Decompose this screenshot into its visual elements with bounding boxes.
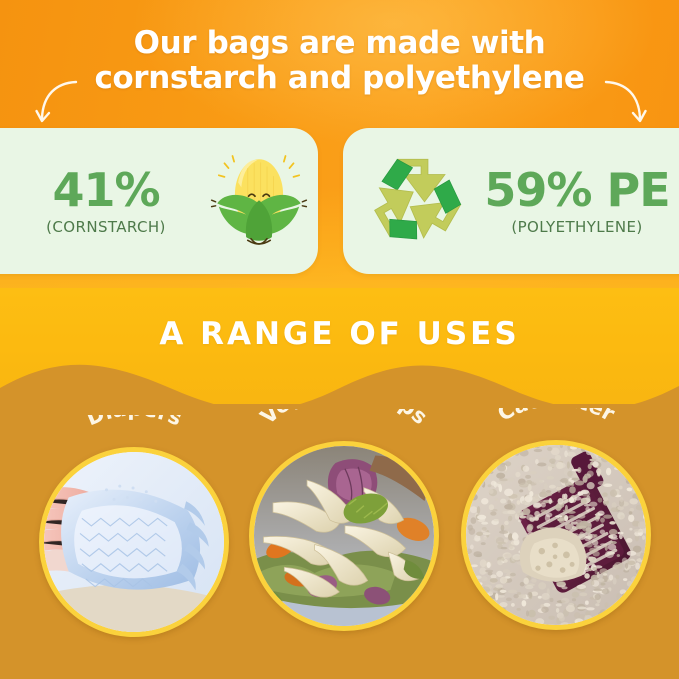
polyethylene-percentage: 59% PE: [479, 167, 675, 213]
cornstarch-stat: 41% (CORNSTARCH): [6, 167, 206, 236]
veggie-scraps-photo: [249, 441, 439, 631]
infographic-root: Our bags are made with cornstarch and po…: [0, 0, 679, 679]
cornstarch-percentage: 41%: [6, 167, 206, 213]
corn-mascot-icon: [206, 138, 312, 264]
uses-section-title: A RANGE OF USES: [0, 316, 679, 352]
polyethylene-label: (POLYETHYLENE): [479, 218, 675, 236]
curved-arrow-down-right-icon: [602, 78, 648, 130]
svg-text:Veggie Scraps: Veggie Scraps: [256, 409, 432, 429]
recycle-icon: [353, 140, 479, 262]
svg-text:Diapers: Diapers: [83, 415, 186, 431]
diapers-photo: [39, 447, 229, 637]
page-title-line-1: Our bags are made with: [0, 26, 679, 61]
use-label-cat-litter: Cat Litter: [455, 408, 657, 456]
composition-card-cornstarch: 41% (CORNSTARCH): [0, 128, 318, 274]
cat-litter-photo: [461, 440, 651, 630]
page-title: Our bags are made with cornstarch and po…: [0, 26, 679, 96]
svg-text:Cat Litter: Cat Litter: [494, 408, 620, 426]
use-label-diapers: Diapers: [33, 415, 235, 463]
curved-arrow-down-left-icon: [34, 78, 80, 130]
cornstarch-label: (CORNSTARCH): [6, 218, 206, 236]
page-title-line-2: cornstarch and polyethylene: [0, 61, 679, 96]
composition-card-polyethylene: 59% PE (POLYETHYLENE): [343, 128, 679, 274]
polyethylene-stat: 59% PE (POLYETHYLENE): [479, 167, 675, 236]
use-label-veggie-scraps: Veggie Scraps: [243, 409, 445, 457]
